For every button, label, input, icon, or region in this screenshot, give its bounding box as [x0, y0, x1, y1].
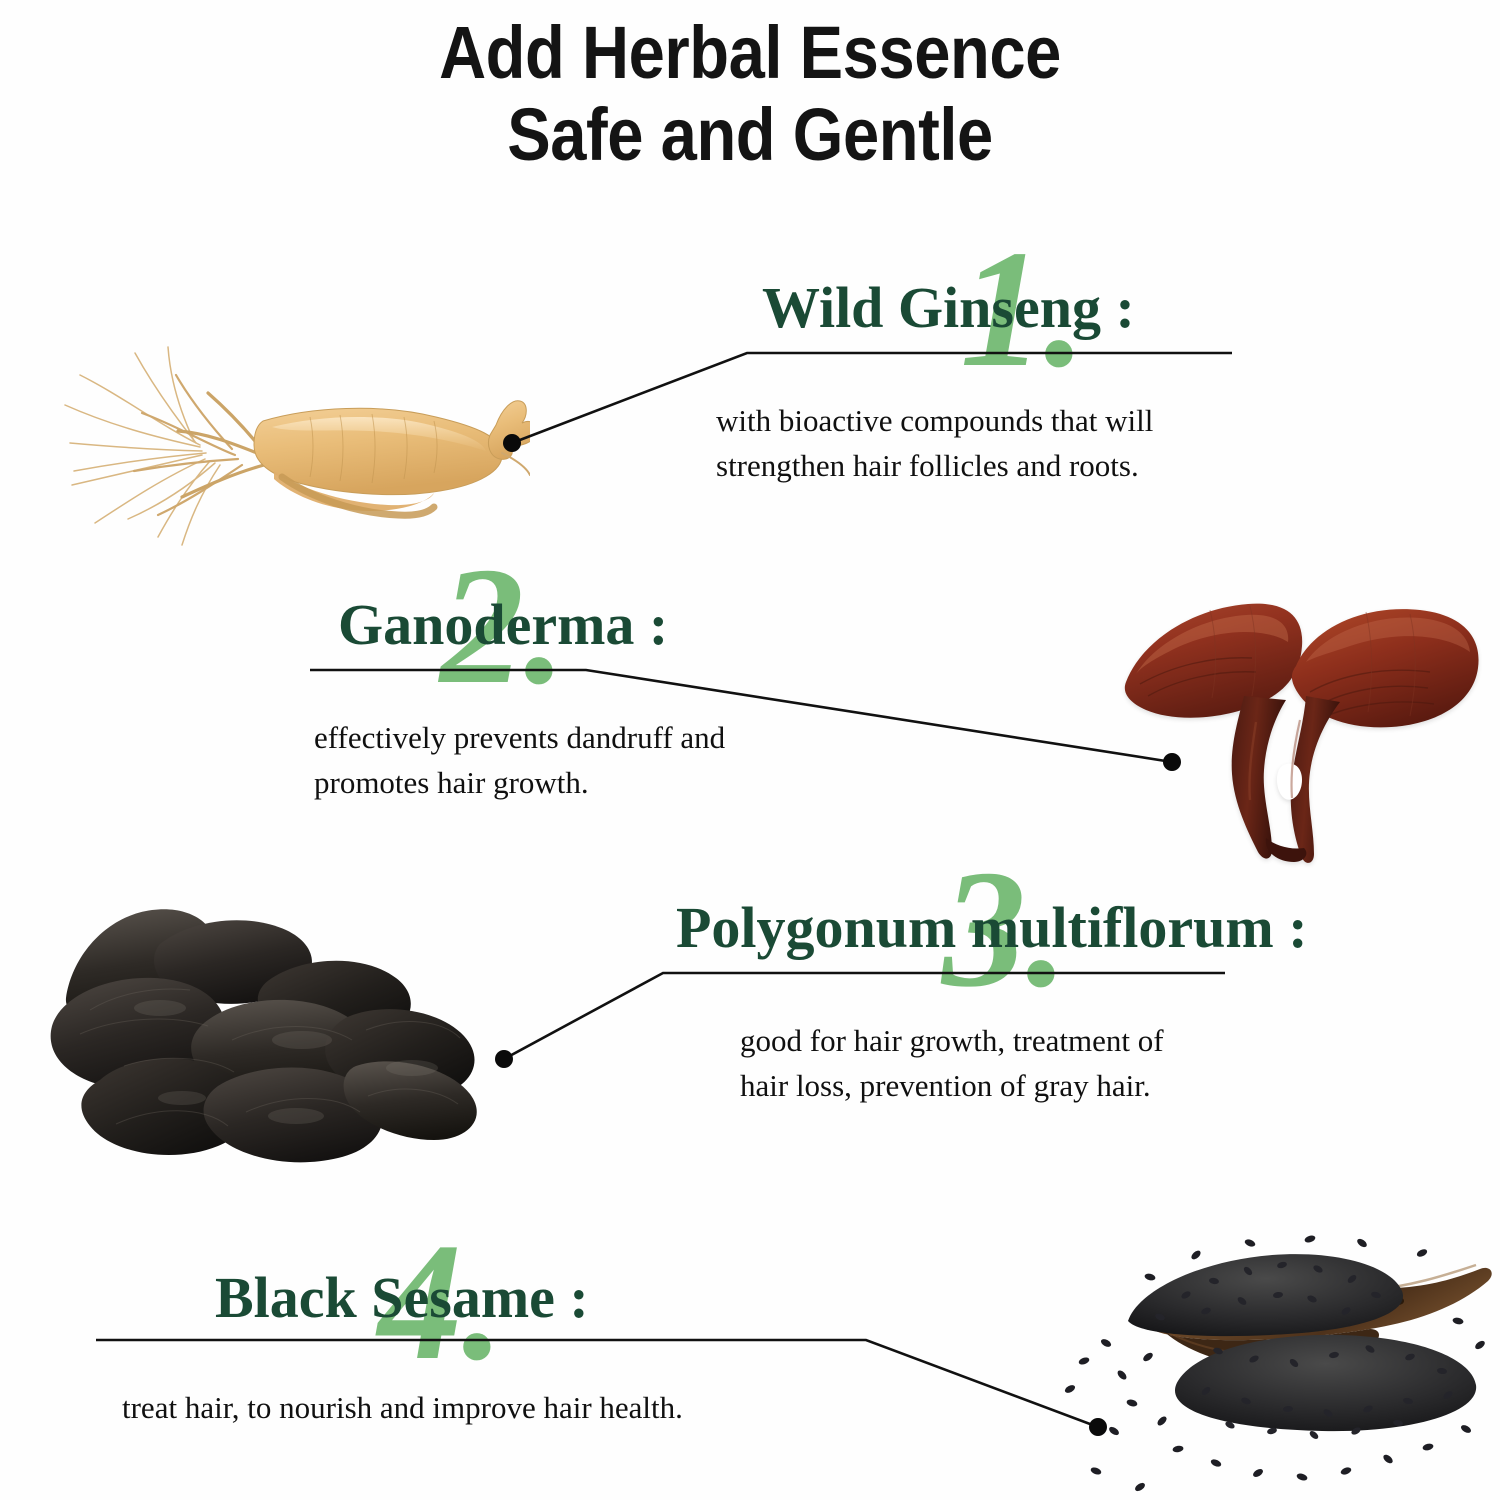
title-line-1: Add Herbal Essence [90, 12, 1410, 94]
black-sesame-seeds-with-scoop-image [1010, 1225, 1500, 1500]
section-heading-3: Polygonum multiflorum : [676, 898, 1308, 958]
section-description-2-line-1: effectively prevents dandruff and [314, 715, 725, 760]
wild-ginseng-root-image [10, 275, 530, 555]
title-line-2: Safe and Gentle [90, 94, 1410, 176]
section-description-3-line-1: good for hair growth, treatment of [740, 1018, 1164, 1063]
section-description-2-line-2: promotes hair growth. [314, 760, 589, 805]
ganoderma-reishi-mushroom-image [1090, 570, 1490, 870]
section-heading-4: Black Sesame : [215, 1268, 589, 1328]
section-description-3-line-2: hair loss, prevention of gray hair. [740, 1063, 1151, 1108]
section-heading-1: Wild Ginseng : [762, 278, 1135, 338]
section-description-4-line-1: treat hair, to nourish and improve hair … [122, 1385, 683, 1430]
section-description-1-line-2: strengthen hair follicles and roots. [716, 443, 1139, 488]
page-title: Add Herbal Essence Safe and Gentle [0, 12, 1500, 176]
herbal-ingredients-poster: Add Herbal Essence Safe and Gentle [0, 0, 1500, 1500]
polygonum-multiflorum-slices-image [20, 890, 520, 1180]
section-description-1-line-1: with bioactive compounds that will [716, 398, 1153, 443]
section-heading-2: Ganoderma : [338, 595, 668, 655]
